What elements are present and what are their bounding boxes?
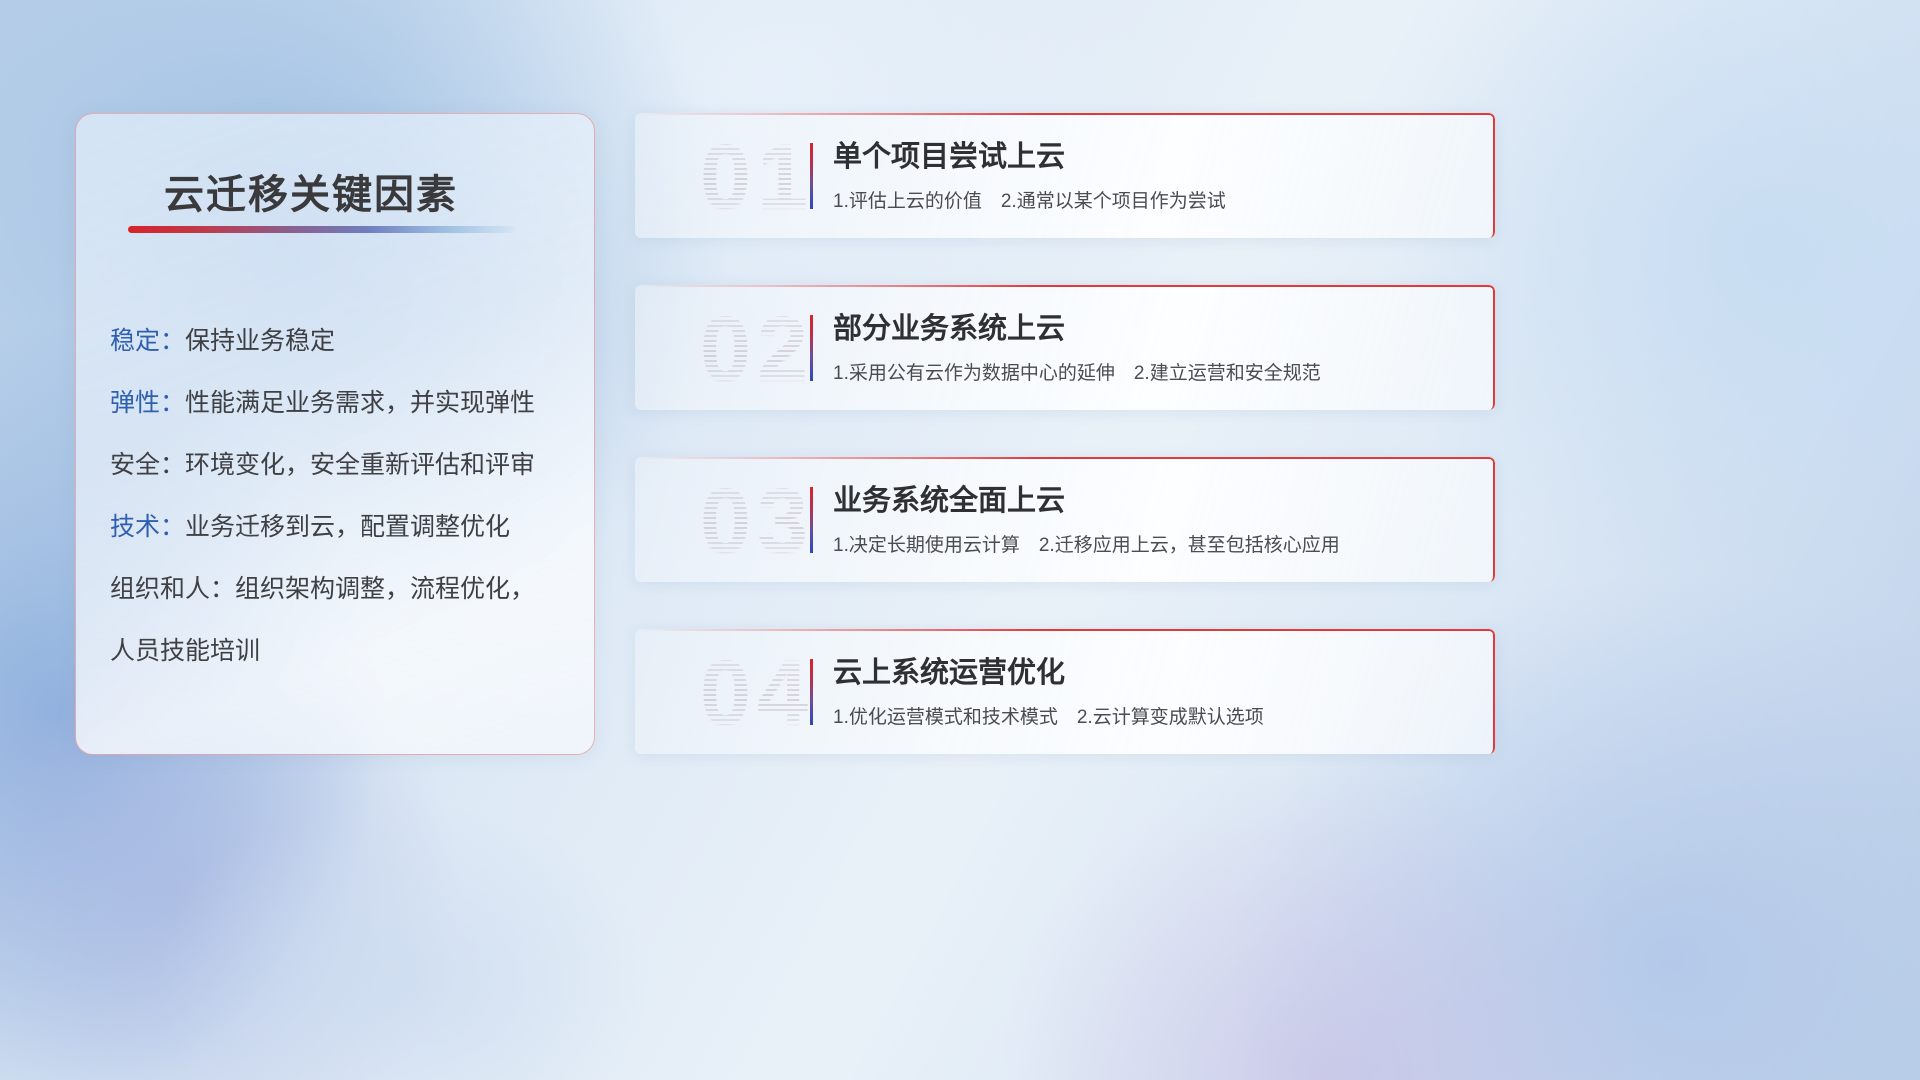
- stage-description: 1.决定长期使用云计算 2.迁移应用上云，甚至包括核心应用: [833, 530, 1340, 557]
- stage-number-watermark: 03: [657, 467, 857, 575]
- stage-card[interactable]: 03业务系统全面上云1.决定长期使用云计算 2.迁移应用上云，甚至包括核心应用: [635, 457, 1495, 582]
- stage-title: 业务系统全面上云: [833, 477, 1065, 519]
- stage-number-watermark: 01: [657, 123, 857, 231]
- stage-description: 1.优化运营模式和技术模式 2.云计算变成默认选项: [833, 702, 1264, 729]
- key-factor-value: 环境变化，安全重新评估和评审: [185, 451, 535, 479]
- stage-divider-bar: [810, 487, 813, 553]
- stage-card[interactable]: 01单个项目尝试上云1.评估上云的价值 2.通常以某个项目作为尝试: [635, 113, 1495, 238]
- stage-title: 部分业务系统上云: [833, 305, 1065, 347]
- stage-divider-bar: [810, 143, 813, 209]
- key-factor-label: 稳定：: [110, 327, 185, 355]
- key-factor-value: 业务迁移到云，配置调整优化: [185, 513, 510, 541]
- key-factor-row: 人员技能培训: [110, 639, 580, 664]
- stage-title: 云上系统运营优化: [833, 649, 1065, 691]
- stage-divider-bar: [810, 659, 813, 725]
- key-factor-label: 安全：: [110, 451, 185, 479]
- stage-card[interactable]: 02部分业务系统上云1.采用公有云作为数据中心的延伸 2.建立运营和安全规范: [635, 285, 1495, 410]
- key-factor-label: 组织和人：: [110, 575, 235, 603]
- key-factor-label: 弹性：: [110, 389, 185, 417]
- title-underline: [128, 226, 516, 233]
- key-factor-value: 保持业务稳定: [185, 327, 335, 355]
- stage-number-watermark: 02: [657, 295, 857, 403]
- key-factor-value: 组织架构调整，流程优化，: [235, 575, 535, 603]
- stage-number-watermark: 04: [657, 639, 857, 747]
- key-factor-value: 人员技能培训: [110, 637, 260, 665]
- stage-divider-bar: [810, 315, 813, 381]
- stage-description: 1.评估上云的价值 2.通常以某个项目作为尝试: [833, 186, 1226, 213]
- stage-title: 单个项目尝试上云: [833, 133, 1065, 175]
- stage-description: 1.采用公有云作为数据中心的延伸 2.建立运营和安全规范: [833, 358, 1321, 385]
- stage-card[interactable]: 04云上系统运营优化1.优化运营模式和技术模式 2.云计算变成默认选项: [635, 629, 1495, 754]
- key-factor-row: 安全：环境变化，安全重新评估和评审: [110, 453, 580, 478]
- key-factor-row: 技术：业务迁移到云，配置调整优化: [110, 515, 580, 540]
- key-factor-value: 性能满足业务需求，并实现弹性: [185, 389, 535, 417]
- key-factor-row: 稳定：保持业务稳定: [110, 329, 580, 354]
- key-factor-row: 组织和人：组织架构调整，流程优化，: [110, 577, 580, 602]
- key-factors-panel: 云迁移关键因素 稳定：保持业务稳定弹性：性能满足业务需求，并实现弹性安全：环境变…: [75, 113, 595, 755]
- key-factor-row: 弹性：性能满足业务需求，并实现弹性: [110, 391, 580, 416]
- key-factor-label: 技术：: [110, 513, 185, 541]
- page-title: 云迁移关键因素: [164, 162, 458, 220]
